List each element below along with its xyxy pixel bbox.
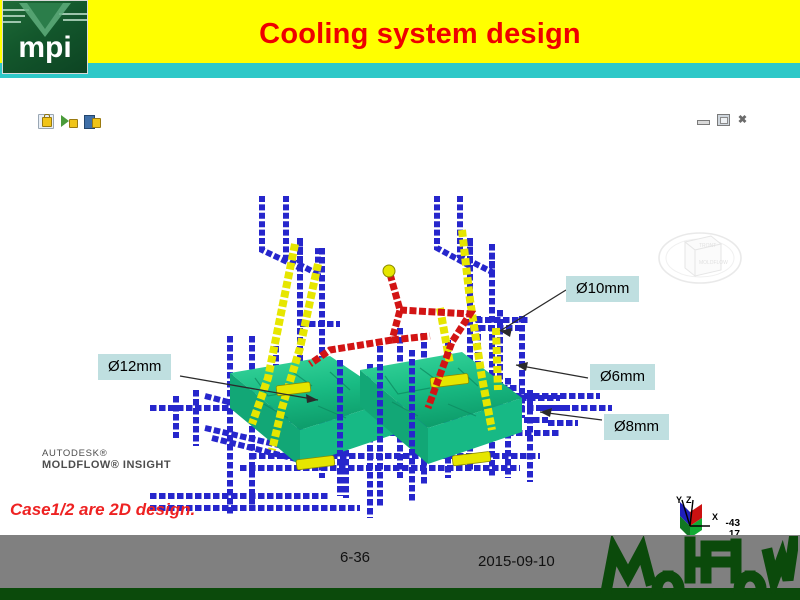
axis-label-y: Y xyxy=(676,495,682,505)
callout-dia10: Ø10mm xyxy=(566,276,639,302)
callout-dia8: Ø8mm xyxy=(604,414,669,440)
logo-triangle-inner-icon xyxy=(27,3,63,29)
mpi-logo: mpi xyxy=(2,0,88,74)
moldflow-insight-wordmark: MOLDFLOW® INSIGHT xyxy=(42,460,171,472)
callout-dia6: Ø6mm xyxy=(590,364,655,390)
cad-viewport[interactable]: ✖ TRONT MOLDFLOW xyxy=(0,78,800,530)
callout-dia12: Ø12mm xyxy=(98,354,171,380)
slide: mpi Cooling system design ✖ xyxy=(0,0,800,600)
axis-value-0: -43 xyxy=(700,518,740,529)
moldflow-logo: Moldflow xyxy=(598,536,798,594)
slide-caption: Case1/2 are 2D design. xyxy=(10,500,195,520)
autodesk-wordmark: AUTODESK® xyxy=(42,448,171,460)
axis-label-z: Z xyxy=(686,495,692,505)
autodesk-branding: AUTODESK® MOLDFLOW® INSIGHT xyxy=(42,448,171,471)
slide-date: 2015-09-10 xyxy=(478,553,555,570)
header-accent-band xyxy=(0,63,800,78)
page-title: Cooling system design xyxy=(90,12,750,56)
mpi-logo-text: mpi xyxy=(3,31,87,65)
page-number: 6-36 xyxy=(340,549,370,566)
